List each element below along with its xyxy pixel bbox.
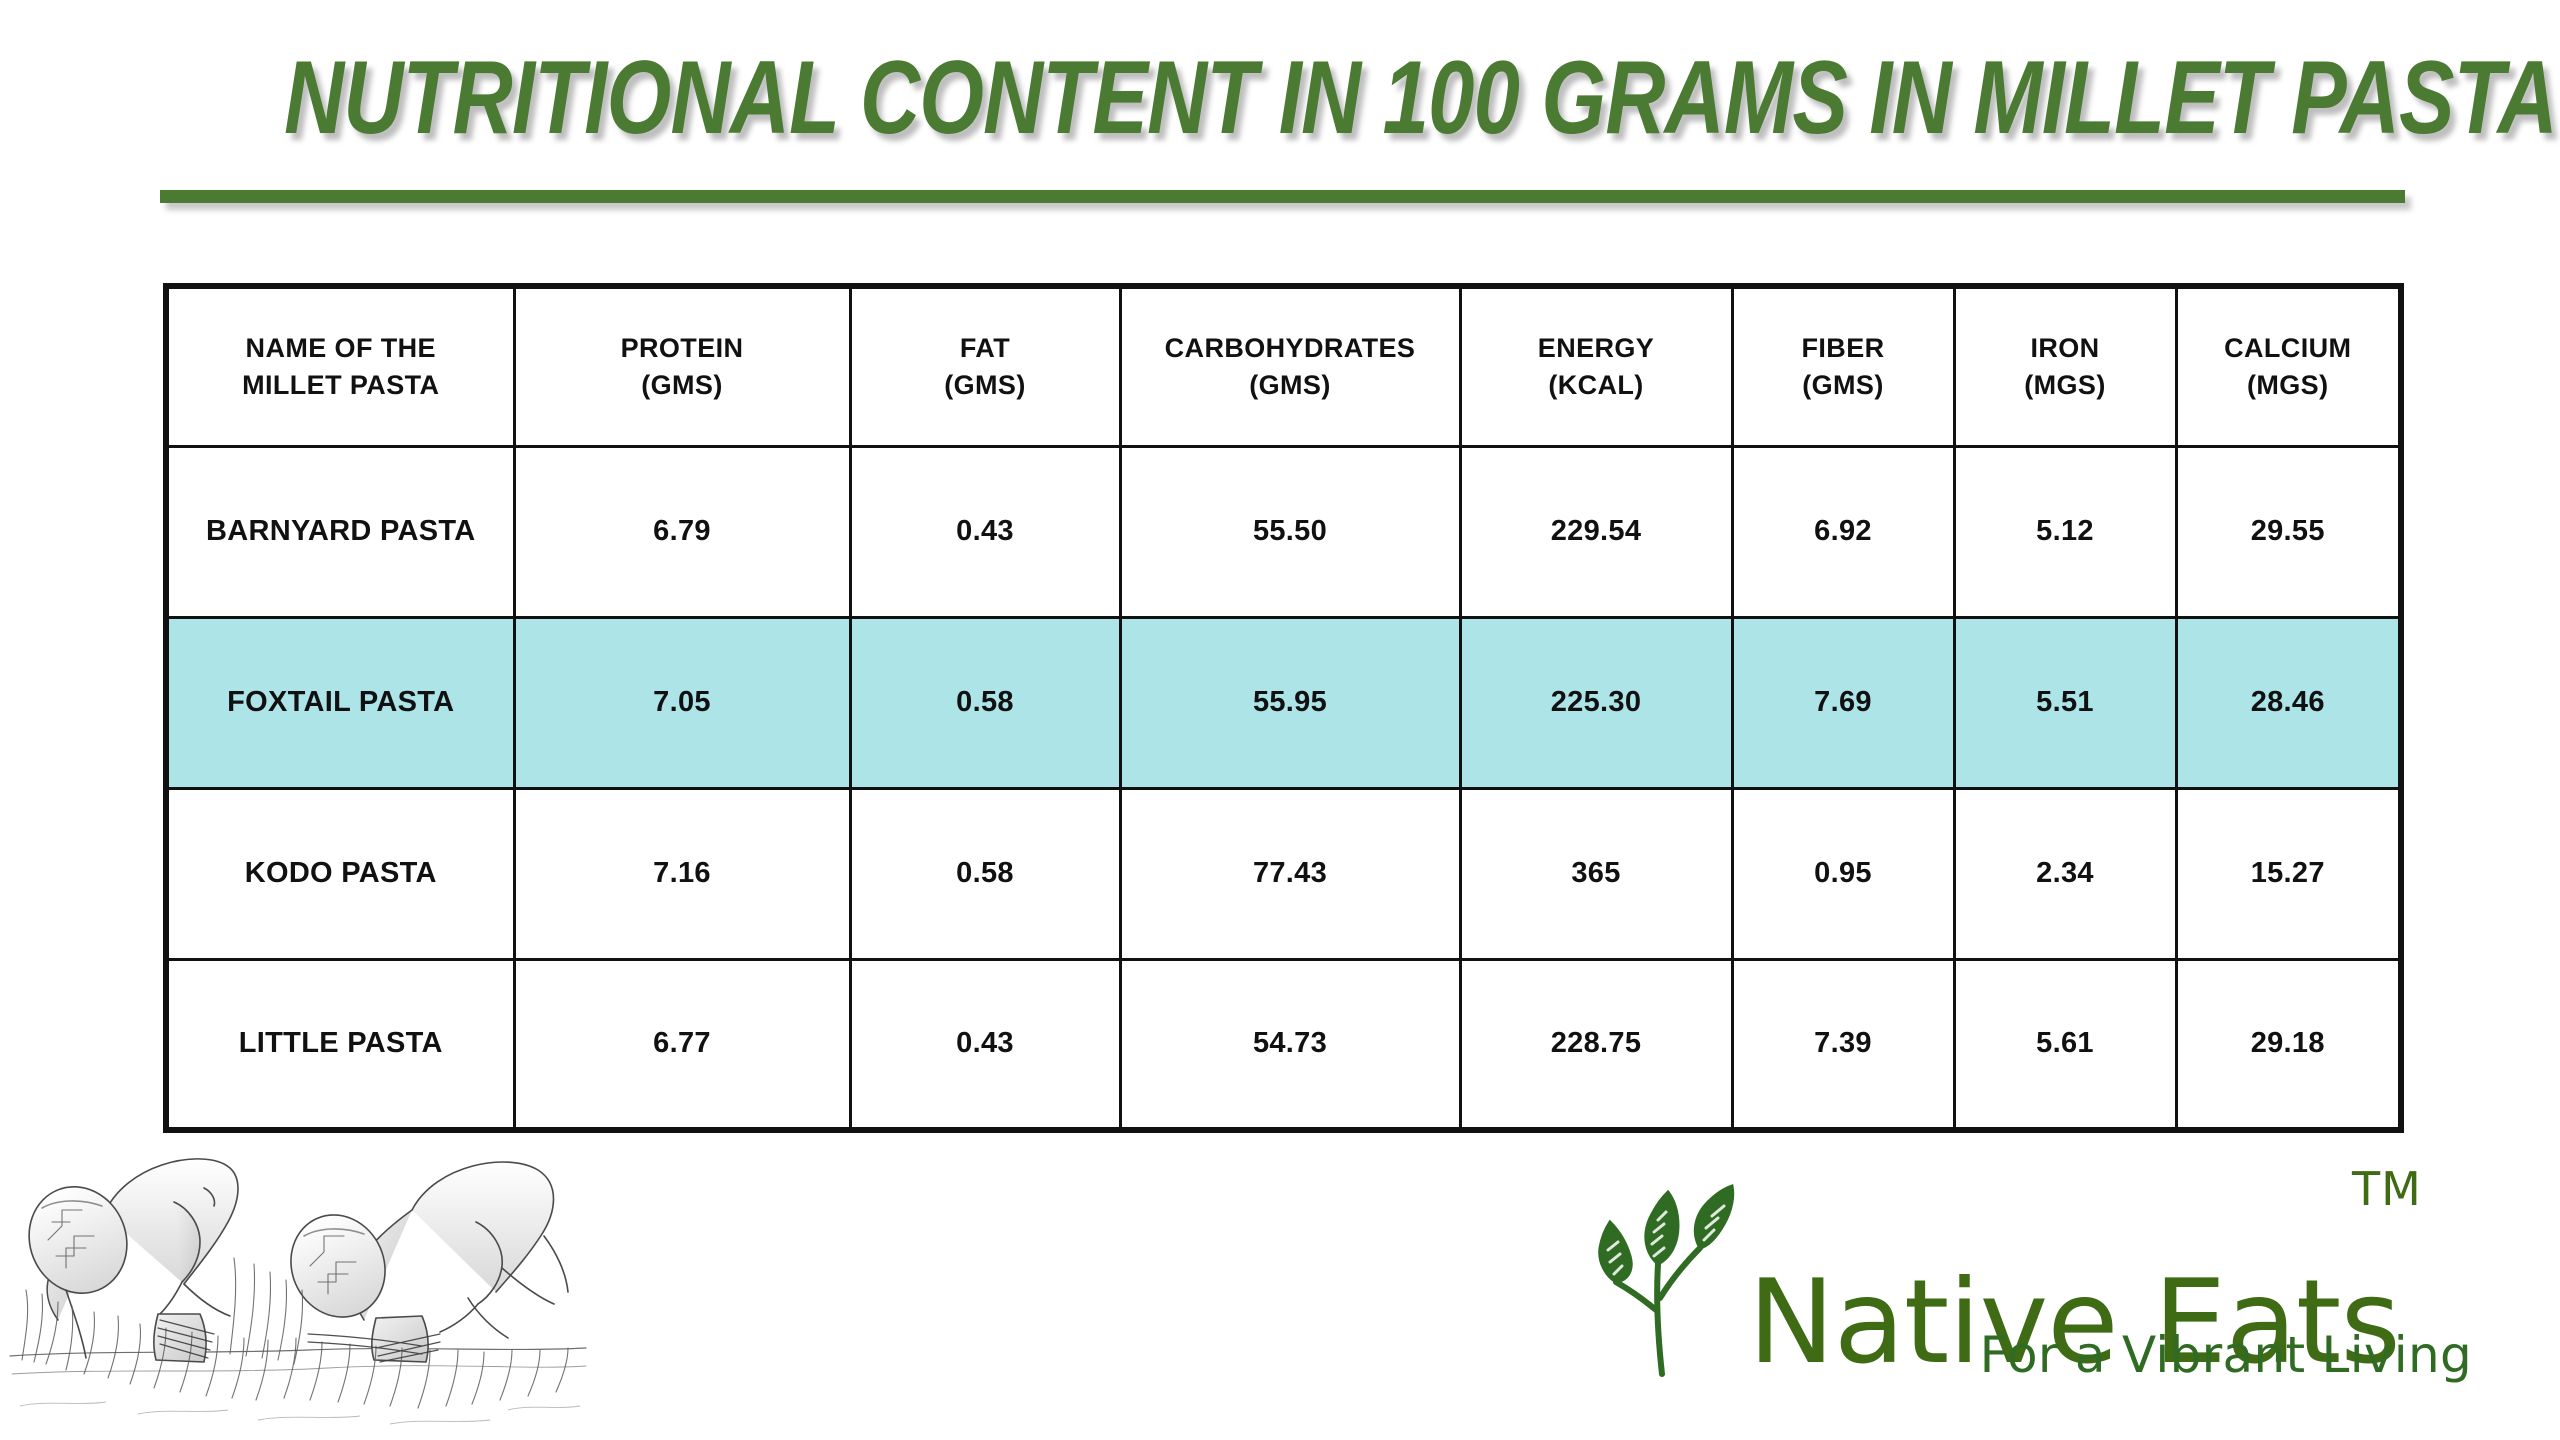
column-header-name: NAME OF THE MILLET PASTA [166,286,514,446]
column-header-carbs: CARBOHYDRATES (GMS) [1120,286,1460,446]
cell-name: BARNYARD PASTA [166,446,514,617]
title-block: NUTRITIONAL CONTENT IN 100 GRAMS IN MILL… [0,42,2560,154]
column-header-fiber-line2: (GMS) [1802,370,1883,400]
cell-fat: 0.43 [850,446,1120,617]
table-header: NAME OF THE MILLET PASTA PROTEIN (GMS) F… [166,286,2401,446]
column-header-fiber: FIBER (GMS) [1732,286,1954,446]
cell-fat: 0.58 [850,788,1120,959]
cell-fiber: 0.95 [1732,788,1954,959]
column-header-protein-line2: (GMS) [641,370,722,400]
cell-name: FOXTAIL PASTA [166,617,514,788]
table-header-row: NAME OF THE MILLET PASTA PROTEIN (GMS) F… [166,286,2401,446]
nutrition-table: NAME OF THE MILLET PASTA PROTEIN (GMS) F… [163,283,2404,1133]
column-header-energy-line2: (KCAL) [1548,370,1643,400]
cell-carbs: 77.43 [1120,788,1460,959]
cell-iron: 2.34 [1954,788,2176,959]
column-header-iron-line2: (MGS) [2024,370,2105,400]
column-header-fat-line2: (GMS) [944,370,1025,400]
trademark-symbol: TM [2352,1162,2422,1216]
cell-iron: 5.61 [1954,959,2176,1130]
cell-iron: 5.51 [1954,617,2176,788]
table-row: KODO PASTA 7.16 0.58 77.43 365 0.95 2.34… [166,788,2401,959]
column-header-energy-line1: ENERGY [1538,333,1654,363]
cell-carbs: 55.95 [1120,617,1460,788]
column-header-fiber-line1: FIBER [1802,333,1885,363]
poster-canvas: NUTRITIONAL CONTENT IN 100 GRAMS IN MILL… [0,0,2560,1440]
cell-calcium: 29.55 [2176,446,2401,617]
cell-energy: 225.30 [1460,617,1732,788]
nutrition-table-container: NAME OF THE MILLET PASTA PROTEIN (GMS) F… [163,283,2398,1128]
cell-carbs: 55.50 [1120,446,1460,617]
column-header-name-line2: MILLET PASTA [242,370,439,400]
cell-name: LITTLE PASTA [166,959,514,1130]
table-row-highlighted: FOXTAIL PASTA 7.05 0.58 55.95 225.30 7.6… [166,617,2401,788]
column-header-iron-line1: IRON [2030,333,2099,363]
column-header-calcium-line2: (MGS) [2247,370,2328,400]
cell-fiber: 7.39 [1732,959,1954,1130]
cell-fat: 0.58 [850,617,1120,788]
cell-protein: 6.79 [514,446,850,617]
brand-logo: Native Eats TM For a Vibrant Living [1592,1178,2472,1418]
column-header-fat: FAT (GMS) [850,286,1120,446]
cell-name: KODO PASTA [166,788,514,959]
logo-tagline: For a Vibrant Living [1980,1326,2472,1384]
cell-iron: 5.12 [1954,446,2176,617]
column-header-carbs-line2: (GMS) [1249,370,1330,400]
cell-calcium: 28.46 [2176,617,2401,788]
cell-energy: 228.75 [1460,959,1732,1130]
cell-calcium: 29.18 [2176,959,2401,1130]
column-header-calcium-line1: CALCIUM [2224,333,2351,363]
cell-protein: 7.16 [514,788,850,959]
cell-protein: 7.05 [514,617,850,788]
column-header-protein: PROTEIN (GMS) [514,286,850,446]
title-underline-rule [160,190,2405,203]
cell-energy: 229.54 [1460,446,1732,617]
table-row: LITTLE PASTA 6.77 0.43 54.73 228.75 7.39… [166,959,2401,1130]
cell-fiber: 7.69 [1732,617,1954,788]
cell-carbs: 54.73 [1120,959,1460,1130]
column-header-energy: ENERGY (KCAL) [1460,286,1732,446]
page-title: NUTRITIONAL CONTENT IN 100 GRAMS IN MILL… [284,42,2557,154]
cell-energy: 365 [1460,788,1732,959]
cell-calcium: 15.27 [2176,788,2401,959]
column-header-protein-line1: PROTEIN [621,333,744,363]
farmers-harvesting-sketch [8,1148,588,1440]
column-header-name-line1: NAME OF THE [246,333,436,363]
column-header-fat-line1: FAT [960,333,1010,363]
millet-stalk-icon [1592,1178,1742,1383]
column-header-calcium: CALCIUM (MGS) [2176,286,2401,446]
table-row: BARNYARD PASTA 6.79 0.43 55.50 229.54 6.… [166,446,2401,617]
column-header-carbs-line1: CARBOHYDRATES [1165,333,1416,363]
cell-fiber: 6.92 [1732,446,1954,617]
cell-protein: 6.77 [514,959,850,1130]
column-header-iron: IRON (MGS) [1954,286,2176,446]
table-body: BARNYARD PASTA 6.79 0.43 55.50 229.54 6.… [166,446,2401,1130]
cell-fat: 0.43 [850,959,1120,1130]
